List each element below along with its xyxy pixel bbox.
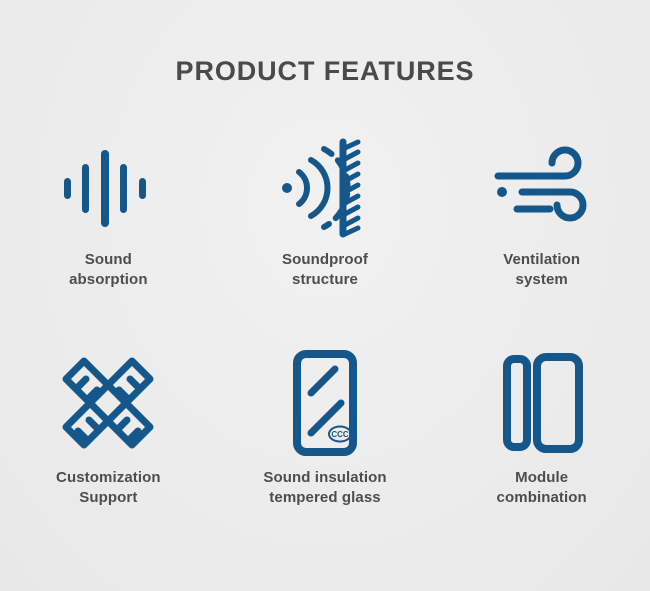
features-row-1: Sound absorption xyxy=(0,128,650,340)
ruler-pencil-icon xyxy=(58,340,158,466)
module-panel-wide xyxy=(537,357,579,449)
feature-module-combination[interactable]: Module combination xyxy=(433,340,650,552)
tempered-glass-icon: CCC xyxy=(285,340,365,466)
feature-soundproof-structure[interactable]: Soundproof structure xyxy=(217,128,434,340)
feature-label: Soundproof structure xyxy=(282,250,368,290)
sound-wave-icon xyxy=(60,128,156,248)
feature-label: Ventilation system xyxy=(503,250,580,290)
feature-label: Sound absorption xyxy=(69,250,148,290)
module-panel-narrow xyxy=(507,359,527,447)
features-grid: Sound absorption xyxy=(0,128,650,552)
feature-ventilation-system[interactable]: Ventilation system xyxy=(433,128,650,340)
feature-label: Customization Support xyxy=(56,468,161,508)
ccc-badge-text: CCC xyxy=(331,430,349,439)
feature-customization-support[interactable]: Customization Support xyxy=(0,340,217,552)
feature-sound-absorption[interactable]: Sound absorption xyxy=(0,128,217,340)
ccc-badge: CCC xyxy=(329,427,351,442)
page-title: PRODUCT FEATURES xyxy=(0,56,650,87)
product-features-page: PRODUCT FEATURES Sound abs xyxy=(0,0,650,591)
module-panels-icon xyxy=(497,340,587,466)
feature-label: Module combination xyxy=(497,468,587,508)
soundproof-wall-icon xyxy=(277,128,373,248)
ventilation-wind-icon xyxy=(492,128,592,248)
features-row-2: Customization Support CCC xyxy=(0,340,650,552)
feature-label: Sound insulation tempered glass xyxy=(263,468,386,508)
feature-tempered-glass[interactable]: CCC Sound insulation tempered glass xyxy=(217,340,434,552)
